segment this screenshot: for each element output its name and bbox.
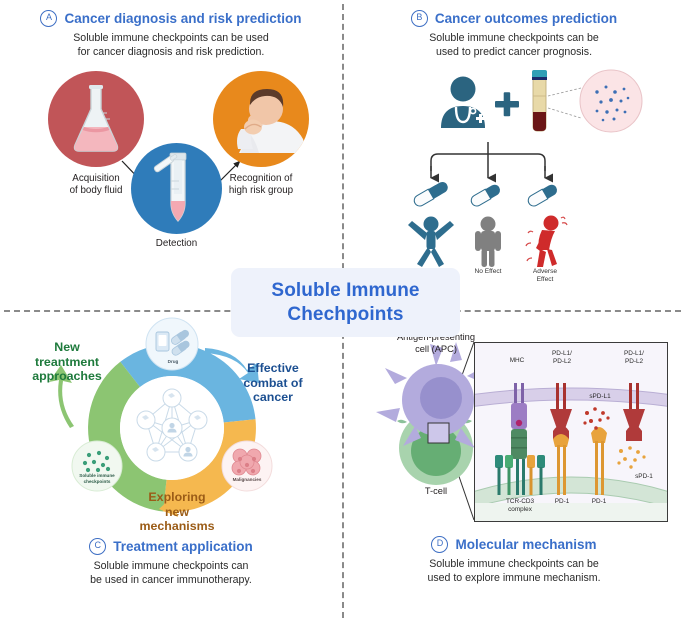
effective-combat-line1: Effective <box>213 361 333 376</box>
panel-d: Antigen-presenting cell (APC) T-cell <box>343 318 685 586</box>
pdl1-pdl2-1-line1: PD-L1/ <box>541 350 583 358</box>
capsule-icon-3 <box>526 183 559 208</box>
molecular-mechanism-diagram <box>475 343 667 521</box>
soluble-checkpoints-mini-label: Soluble immune checkpoints <box>70 473 124 484</box>
figure-canvas: A Cancer diagnosis and risk prediction S… <box>0 0 685 622</box>
no-effect-label: No Effect <box>463 268 513 276</box>
doctor-stethoscope-icon <box>441 76 485 128</box>
center-title-box: Soluble Immune Chechpoints <box>231 268 460 337</box>
spd1-label: sPD-1 <box>625 473 663 481</box>
recognition-circle <box>213 71 309 167</box>
malignancies-mini-label: Malignancies <box>222 477 272 483</box>
new-treatment-line2: treantment <box>6 355 128 370</box>
center-title-line2: Chechpoints <box>271 303 419 326</box>
acquisition-label-line2: of body fluid <box>28 185 164 197</box>
mhc-label: MHC <box>501 357 533 365</box>
acquisition-label-line1: Acquisition <box>28 173 164 185</box>
neutral-person-icon <box>475 216 501 267</box>
panel-b-title: Cancer outcomes prediction <box>435 11 617 26</box>
panel-d-badge: D <box>431 536 448 553</box>
drug-mini-label: Drug <box>153 359 193 365</box>
erlenmeyer-flask-icon <box>68 83 124 155</box>
panel-a-graphic: Acquisition of body fluid Recognition of… <box>0 66 342 261</box>
panel-c-header: C Treatment application <box>0 538 342 555</box>
panel-a-header: A Cancer diagnosis and risk prediction <box>0 10 342 27</box>
adverse-effect-label: Adverse Effect <box>520 268 570 284</box>
spdl1-label: sPD-L1 <box>579 393 621 401</box>
panel-c-desc-line2: be used in cancer immunotherapy. <box>0 574 342 588</box>
panel-c-badge: C <box>89 538 106 555</box>
pdl1-pdl2-2-line2: PD-L2 <box>613 358 655 366</box>
capsule-icon-1 <box>412 180 450 208</box>
tcr-cd3-label: TCR-CD3 complex <box>493 498 547 513</box>
panel-d-title: Molecular mechanism <box>455 537 596 552</box>
exploring-line3: mechanisms <box>112 519 242 534</box>
panel-b-badge: B <box>411 10 428 27</box>
panel-d-description: Soluble immune checkpoints can be used t… <box>343 558 685 586</box>
adverse-effect-line1: Adverse <box>520 268 570 276</box>
panel-d-header: D Molecular mechanism <box>343 536 685 553</box>
pdl1-pdl2-label-2: PD-L1/ PD-L2 <box>613 350 655 365</box>
soluble-checkpoints-mini-line2: checkpoints <box>70 479 124 485</box>
magnified-blood-sample-icon <box>548 70 642 132</box>
happy-person-icon <box>408 216 454 267</box>
panel-a: A Cancer diagnosis and risk prediction S… <box>0 10 342 261</box>
panel-a-desc-line1: Soluble immune checkpoints can be used <box>0 32 342 46</box>
capsule-icon-2 <box>469 183 502 208</box>
panel-a-desc-line2: for cancer diagnosis and risk prediction… <box>0 46 342 60</box>
panel-d-graphic: Antigen-presenting cell (APC) T-cell <box>343 318 685 534</box>
panel-d-desc-line2: used to explore immune mechanism. <box>343 572 685 586</box>
panel-b: B Cancer outcomes prediction Soluble imm… <box>343 10 685 273</box>
panel-a-description: Soluble immune checkpoints can be used f… <box>0 32 342 60</box>
pd1-label-2: PD-1 <box>582 498 616 506</box>
panel-b-desc-line1: Soluble immune checkpoints can be <box>343 32 685 46</box>
panel-c: Drug Malignancies Soluble immune checkpo… <box>0 318 342 588</box>
center-title-text: Soluble Immune Chechpoints <box>271 279 419 325</box>
effective-combat-line2: combat of <box>213 376 333 391</box>
panel-d-desc-line1: Soluble immune checkpoints can be <box>343 558 685 572</box>
panel-c-description: Soluble immune checkpoints can be used i… <box>0 560 342 588</box>
new-treatment-line3: approaches <box>6 369 128 384</box>
panel-a-badge: A <box>40 10 57 27</box>
pdl1-pdl2-1-line2: PD-L2 <box>541 358 583 366</box>
panel-c-title: Treatment application <box>113 539 253 554</box>
panel-b-diagram <box>343 68 685 273</box>
panel-a-title: Cancer diagnosis and risk prediction <box>64 11 301 26</box>
recognition-label-line1: Recognition of <box>190 173 332 185</box>
panel-c-graphic: Drug Malignancies Soluble immune checkpo… <box>0 318 342 536</box>
pd1-label-1: PD-1 <box>545 498 579 506</box>
suffering-person-icon <box>526 215 567 267</box>
detection-label: Detection <box>131 238 222 250</box>
center-title-line1: Soluble Immune <box>271 279 419 302</box>
recognition-label: Recognition of high risk group <box>190 173 332 197</box>
panel-c-desc-line1: Soluble immune checkpoints can <box>0 560 342 574</box>
malignancies-mini-node <box>222 441 272 491</box>
tcr-cd3-line1: TCR-CD3 <box>493 498 547 506</box>
acquisition-label: Acquisition of body fluid <box>28 173 164 197</box>
panel-b-description: Soluble immune checkpoints can be used t… <box>343 32 685 60</box>
acquisition-circle <box>48 71 144 167</box>
exploring-mechanisms-label: Exploring new mechanisms <box>112 490 242 534</box>
molecular-zoom-box: MHC PD-L1/ PD-L2 PD-L1/ PD-L2 sPD-L1 sPD… <box>474 342 668 522</box>
exploring-line1: Exploring <box>112 490 242 505</box>
plus-sign <box>495 92 519 116</box>
pdl1-pdl2-2-line1: PD-L1/ <box>613 350 655 358</box>
adverse-effect-line2: Effect <box>520 276 570 284</box>
coughing-person-icon <box>213 71 309 167</box>
panel-b-header: B Cancer outcomes prediction <box>343 10 685 27</box>
panel-b-graphic: Expected Effect No Effect Adverse Effect <box>343 68 685 273</box>
tcr-cd3-line2: complex <box>493 506 547 514</box>
new-treatment-line1: New <box>6 340 128 355</box>
panel-b-desc-line2: used to predict cancer prognosis. <box>343 46 685 60</box>
exploring-line2: new <box>112 505 242 520</box>
tcell-label: T-cell <box>391 486 481 498</box>
blood-collection-tube-icon <box>532 70 547 131</box>
effective-combat-line3: cancer <box>213 390 333 405</box>
effective-combat-label: Effective combat of cancer <box>213 361 333 405</box>
new-treatment-approaches-label: New treantment approaches <box>6 340 128 384</box>
recognition-label-line2: high risk group <box>190 185 332 197</box>
pdl1-pdl2-label-1: PD-L1/ PD-L2 <box>541 350 583 365</box>
